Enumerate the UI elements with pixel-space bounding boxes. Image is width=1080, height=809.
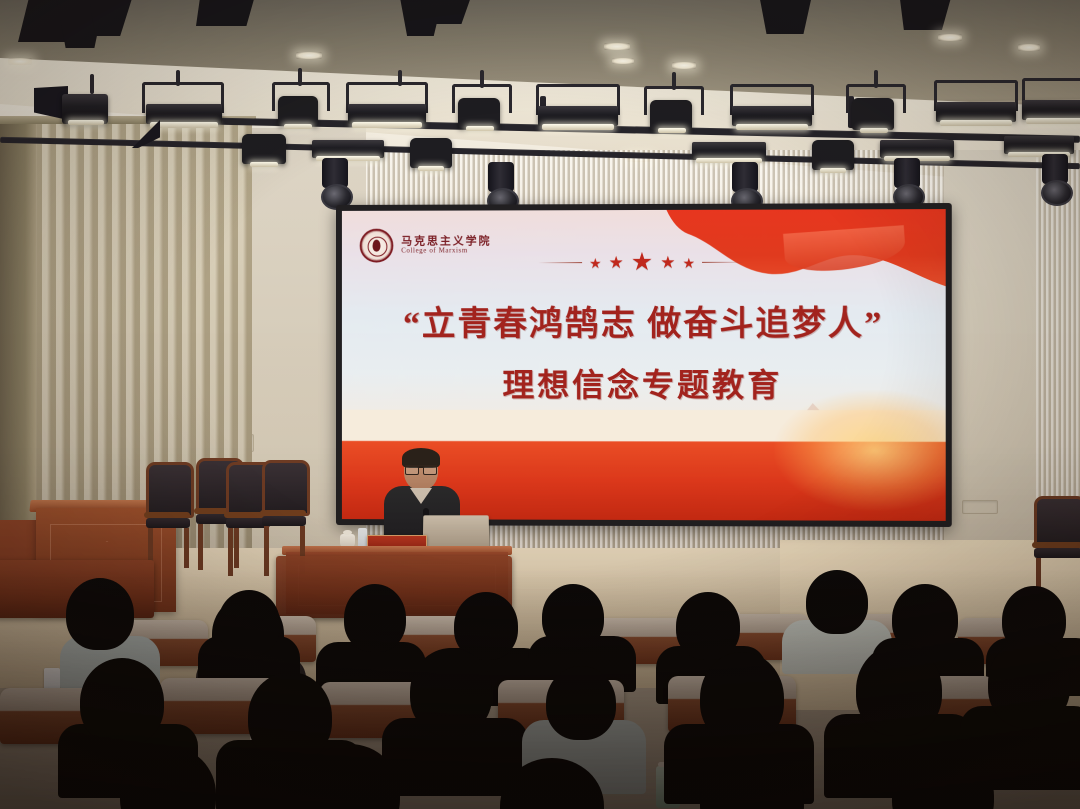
recessed-downlight [612,58,634,64]
star-rule-left [538,262,582,263]
audience-member-head [542,584,604,650]
audience-member-head [66,578,134,650]
recessed-downlight [672,62,696,69]
stage-light-zoom [530,90,626,146]
audience-member-head [546,666,616,740]
audience-member-head [248,672,332,762]
par-can-lens [1041,180,1073,206]
stage-light-profile-lower [236,130,294,180]
star-icon: ★ [589,256,602,270]
stage-light-profile-lower [806,136,862,188]
audience-member-head [80,658,164,746]
wall-vent [962,500,998,514]
par-can-light [318,158,352,208]
recessed-downlight [1018,44,1040,51]
audience-member-head [806,570,868,634]
star-icon: ★ [631,250,653,275]
audience-member-head [988,638,1070,728]
audience-member-head [856,644,942,736]
audience-member-head [218,590,280,656]
stage-light-fresnel [38,86,114,142]
audience-member-head [410,648,492,736]
recessed-downlight [296,52,322,59]
warm-glow [774,390,945,511]
star-icon: ★ [682,255,695,269]
eyeglasses-icon [405,465,437,473]
ceiling-baffle [196,0,256,26]
par-can-light [1038,154,1072,204]
stage-light-zoom [138,86,230,144]
recessed-downlight [938,34,962,41]
star-rule-right [702,262,746,263]
slide-headline: “立青春鸿鹄志 做奋斗追梦人” [342,296,946,346]
audience-member-head [676,592,740,660]
stage-light-profile [640,88,702,146]
lecture-hall-photograph: 马克思主义学院 College of Marxism ★ ★ ★ ★ ★ “立青… [0,0,1080,809]
star-icon: ★ [609,254,624,271]
stage-light-profile-lower [404,134,460,186]
par-can-light [890,158,924,208]
five-stars-decoration: ★ ★ ★ ★ ★ [342,249,946,275]
star-icon: ★ [660,254,675,271]
recessed-downlight [604,43,630,50]
recessed-downlight [8,58,32,65]
stage-curtain-shadow-fold [0,118,36,588]
audience-member-head [700,652,784,744]
audience-member-head [344,584,406,652]
